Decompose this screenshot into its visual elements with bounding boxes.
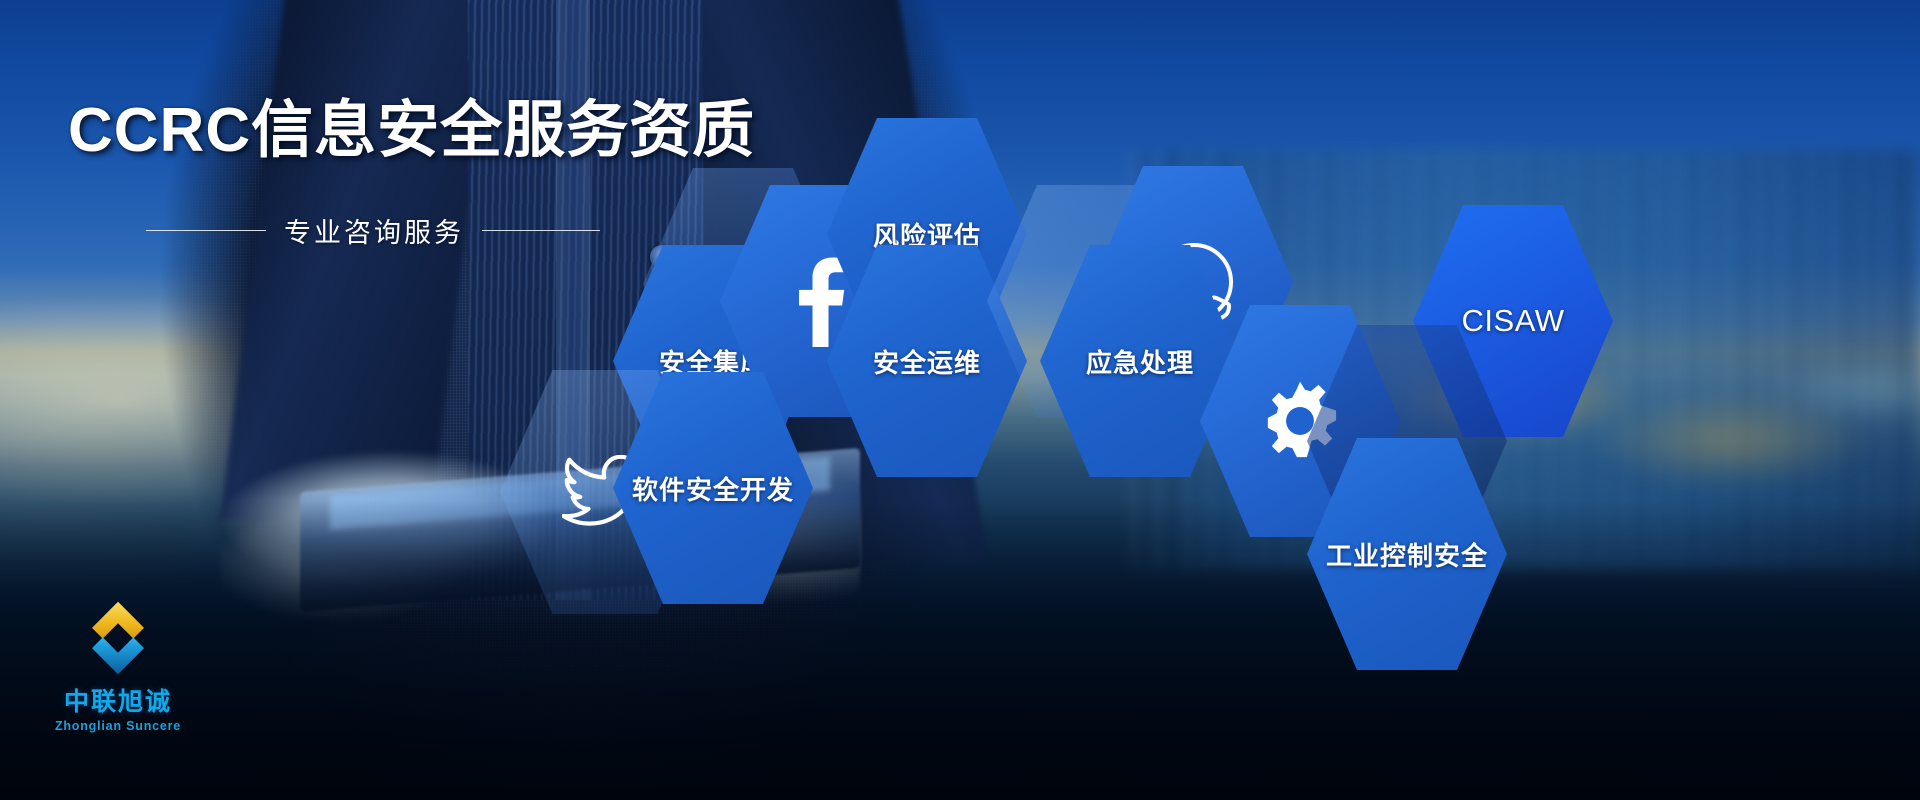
headline-block: CCRC信息安全服务资质 专业咨询服务: [68, 98, 755, 250]
company-logo[interactable]: 中联旭诚 Zhonglian Suncere: [43, 598, 193, 733]
interlocking-diamond-logo-icon: [78, 598, 158, 678]
hexagon-label: 工业控制安全: [1326, 536, 1488, 573]
hexagon-label: 软件安全开发: [632, 470, 794, 507]
page-title: CCRC信息安全服务资质: [68, 98, 755, 163]
banner-hero: 安全集成 风险评估 安全运维 软: [0, 0, 1920, 800]
subtitle-row: 专业咨询服务: [146, 211, 755, 250]
hexagon-label: 应急处理: [1086, 343, 1194, 380]
rule-right: [482, 230, 600, 231]
rule-left: [146, 230, 266, 231]
logo-name-en: Zhonglian Suncere: [43, 719, 193, 733]
hexagon-label: CISAW: [1462, 303, 1565, 339]
page-subtitle: 专业咨询服务: [284, 211, 464, 250]
hexagon-label: 安全运维: [873, 343, 981, 380]
logo-name-cn: 中联旭诚: [43, 682, 193, 718]
